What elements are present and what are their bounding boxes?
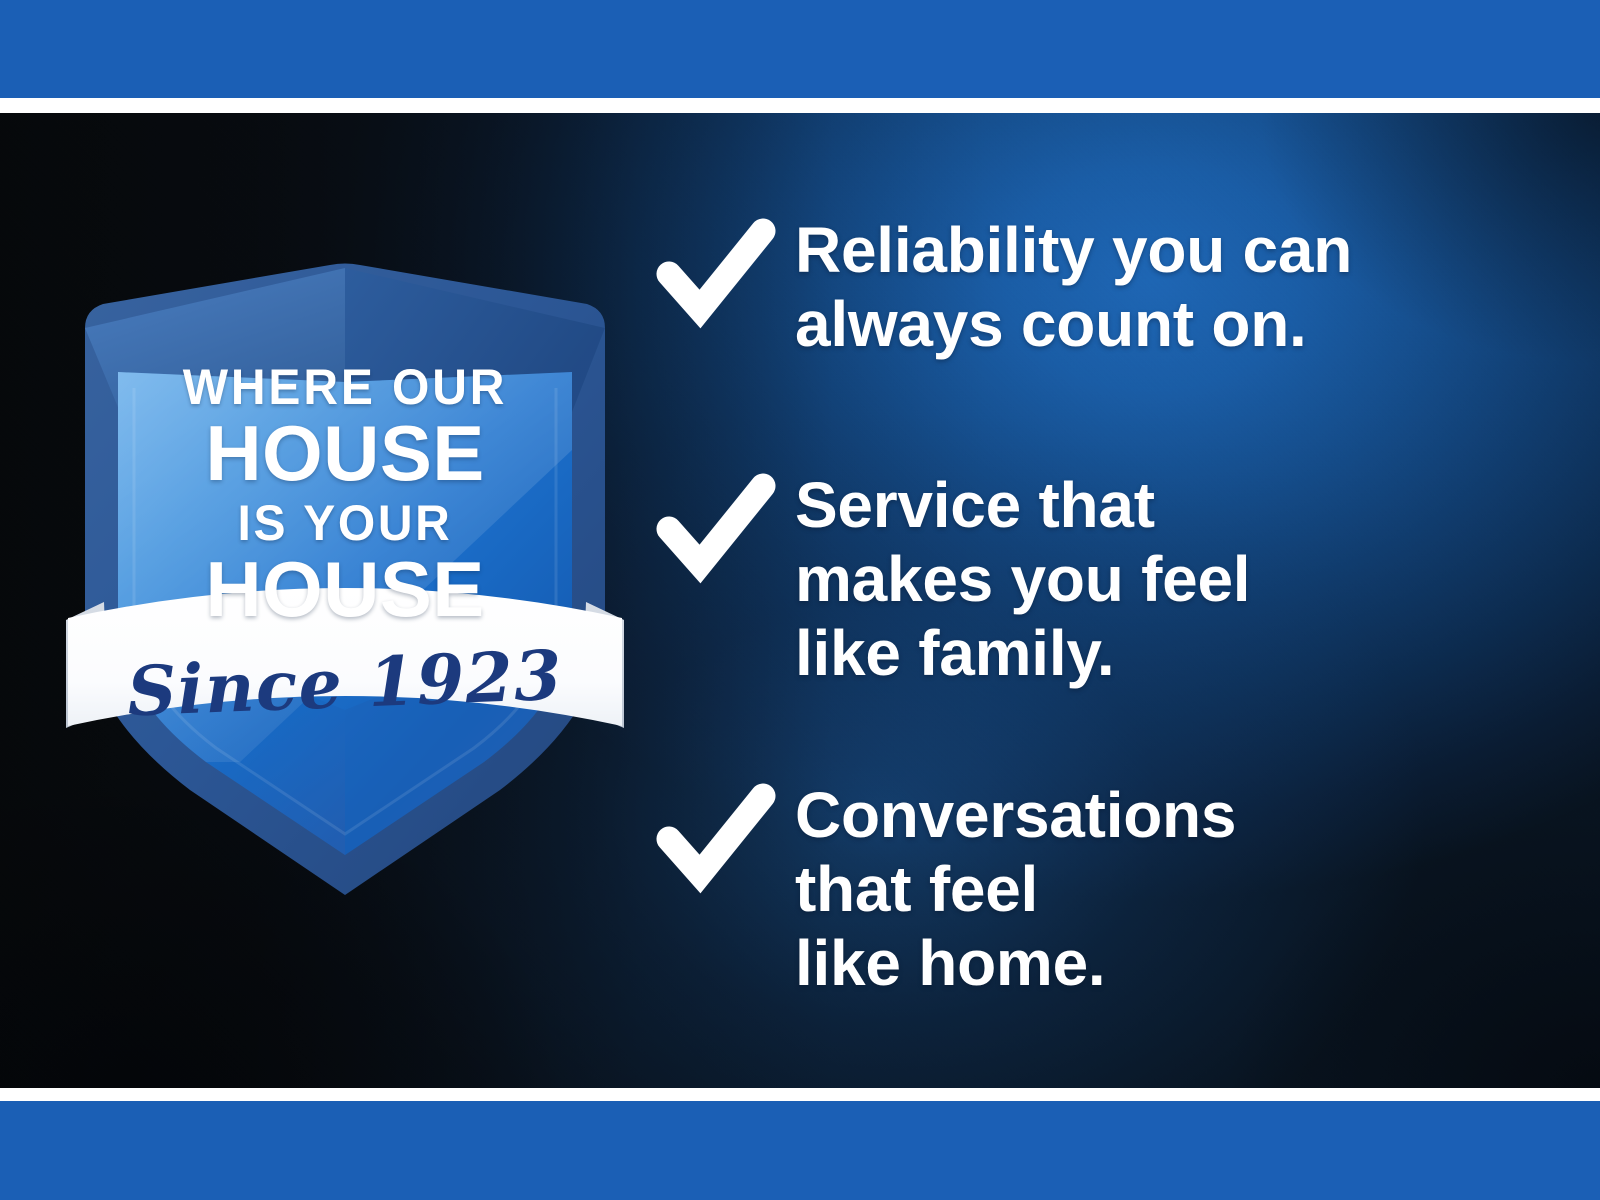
promo-graphic: WHERE OUR HOUSE IS YOUR HOUSE Since 1923… [0,0,1600,1200]
top-brand-bar [0,0,1600,98]
benefit-text: Service that makes you feel like family. [795,468,1520,690]
badge-line-1: WHERE OUR [71,362,618,412]
list-item: Service that makes you feel like family. [660,468,1520,690]
badge-line-2: HOUSE [60,414,630,492]
benefit-text: Conversations that feel like home. [795,778,1520,1000]
check-icon [660,213,795,329]
check-icon [660,468,795,584]
heritage-shield-badge: WHERE OUR HOUSE IS YOUR HOUSE Since 1923 [60,150,630,830]
list-item: Reliability you can always count on. [660,213,1520,361]
list-item: Conversations that feel like home. [660,778,1520,1000]
bottom-brand-bar [0,1101,1600,1200]
check-icon [660,778,795,894]
benefit-text: Reliability you can always count on. [795,213,1520,361]
benefits-list: Reliability you can always count on. Ser… [660,113,1520,1088]
badge-line-4: HOUSE [60,550,630,628]
badge-line-3: IS YOUR [71,498,618,548]
badge-ribbon-text: Since 1923 [59,639,631,729]
